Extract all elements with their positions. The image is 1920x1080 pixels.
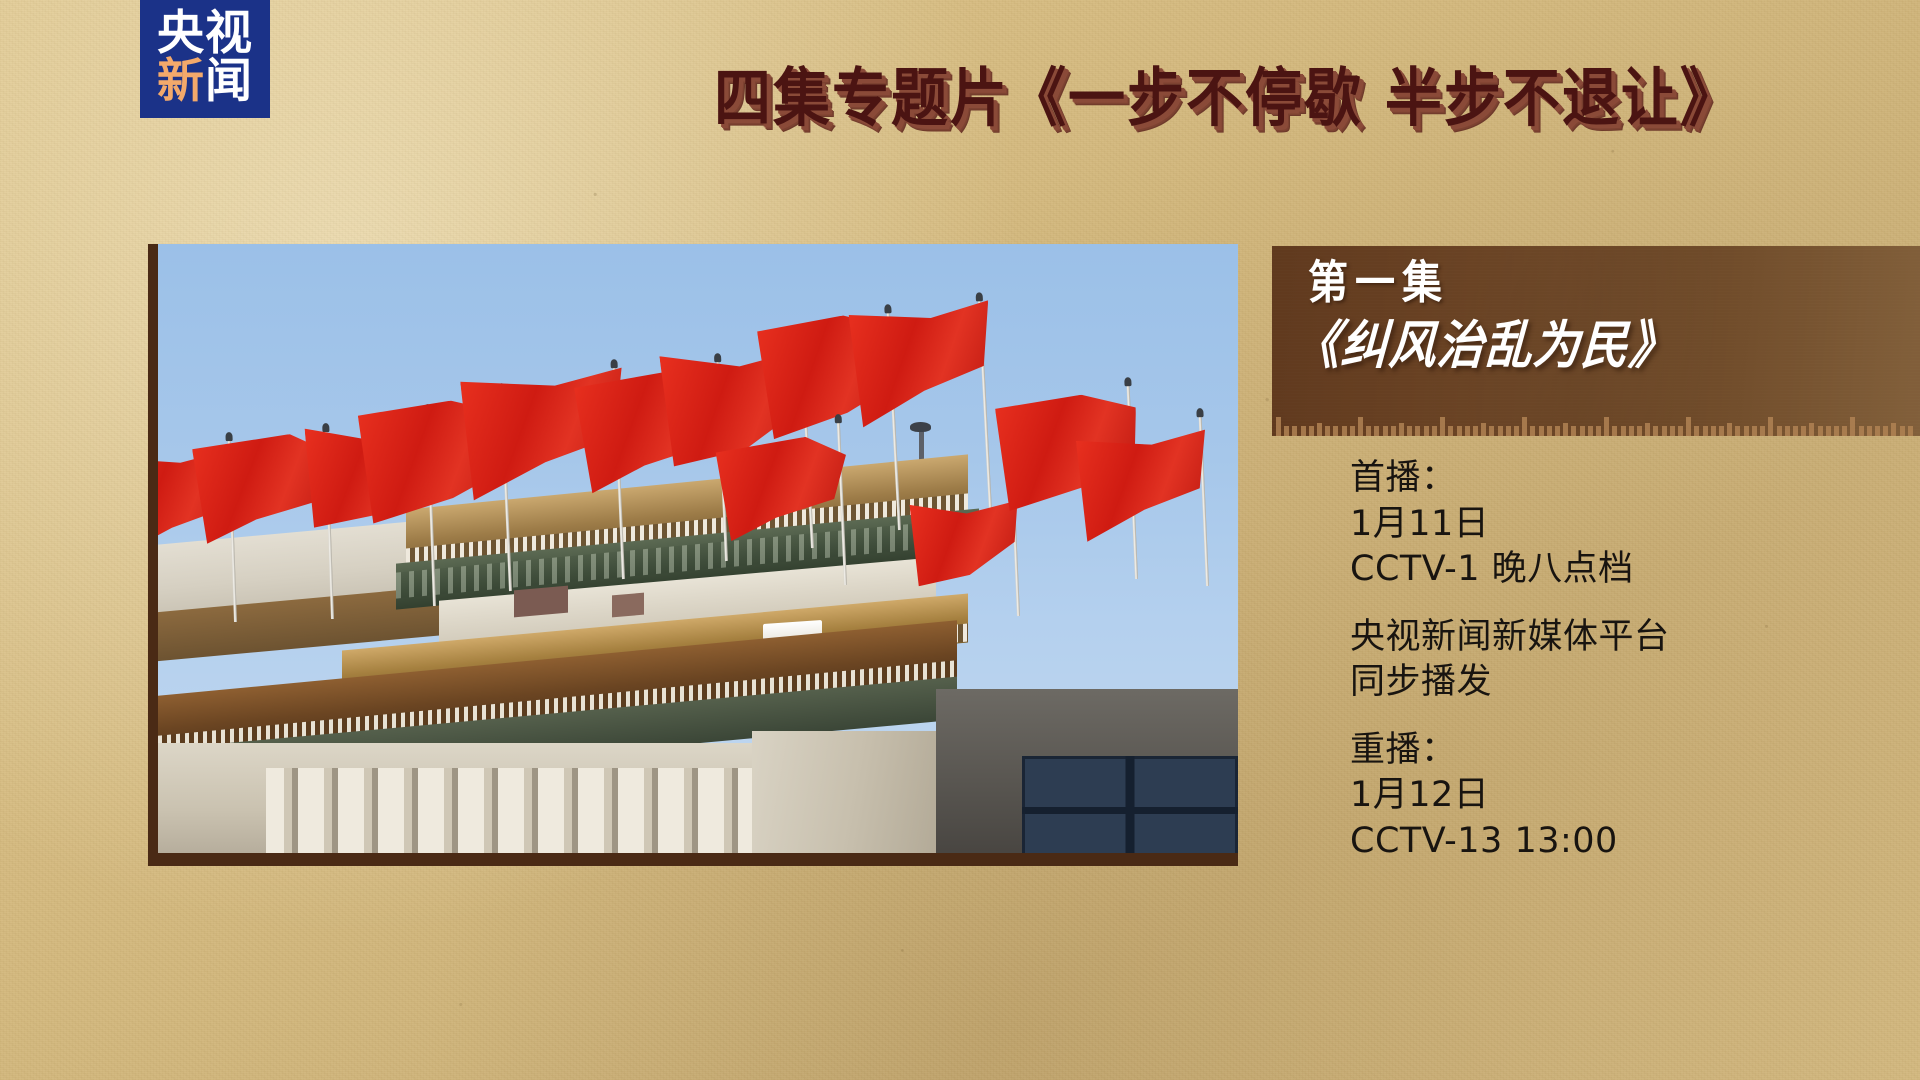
ruler-tick — [1604, 417, 1609, 436]
ruler-tick — [1826, 426, 1831, 436]
ruler-tick — [1842, 426, 1847, 436]
schedule-line: 同步播发 — [1350, 660, 1890, 706]
ruler-tick — [1900, 426, 1905, 436]
rooftop-lamp-head — [910, 422, 932, 432]
ruler-tick — [1522, 417, 1527, 436]
ruler-tick — [1301, 426, 1306, 436]
ruler-tick — [1703, 426, 1708, 436]
episode-panel: 第一集 《纠风治乱为民》 — [1272, 246, 1920, 436]
ruler-tick — [1366, 426, 1371, 436]
ruler-tick — [1834, 426, 1839, 436]
ruler-tick — [1350, 426, 1355, 436]
ruler-tick — [1637, 426, 1642, 436]
schedule-line: 央视新闻新媒体平台 — [1350, 615, 1890, 661]
ruler-tick — [1276, 417, 1281, 436]
schedule-line: 1月11日 — [1350, 502, 1890, 548]
right-window-mullions — [1022, 756, 1238, 853]
logo-line-two: 新 闻 — [157, 58, 253, 106]
schedule-block: 央视新闻新媒体平台同步播发 — [1350, 615, 1890, 706]
schedule-line: 首播： — [1350, 456, 1890, 502]
ruler-tick — [1686, 417, 1691, 436]
ruler-tick — [1744, 426, 1749, 436]
episode-title: 《纠风治乱为民》 — [1291, 318, 1678, 376]
ruler-tick — [1612, 426, 1617, 436]
episode-number-label: 第一集 — [1308, 258, 1449, 309]
colonnade-columns — [266, 768, 763, 853]
ruler-tick — [1621, 426, 1626, 436]
photo-frame — [148, 244, 1238, 864]
ruler-tick — [1571, 426, 1576, 436]
ruler-tick — [1694, 426, 1699, 436]
ruler-tick — [1809, 423, 1814, 436]
ruler-tick — [1867, 426, 1872, 436]
ruler-tick — [1891, 423, 1896, 436]
logo-text-xin: 新 — [157, 58, 205, 106]
red-flag — [1076, 427, 1214, 541]
poster-root: 央视 新 闻 四集专题片《一步不停歇 半步不退让》 — [0, 0, 1920, 1080]
ruler-tick — [1883, 426, 1888, 436]
schedule-line: 1月12日 — [1350, 773, 1890, 819]
schedule-line: CCTV-13 13:00 — [1350, 819, 1890, 865]
ruler-tick — [1547, 426, 1552, 436]
logo-text-wen: 闻 — [205, 58, 253, 106]
ruler-tick — [1563, 423, 1568, 436]
ruler-tick — [1645, 423, 1650, 436]
ruler-tick — [1440, 417, 1445, 436]
ruler-tick — [1424, 426, 1429, 436]
ruler-tick — [1711, 426, 1716, 436]
ruler-tick — [1448, 426, 1453, 436]
logo-line-one: 央视 — [157, 10, 253, 58]
photo-great-hall — [158, 244, 1238, 853]
ruler-tick — [1752, 426, 1757, 436]
ruler-tick — [1850, 417, 1855, 436]
ruler-tick — [1506, 426, 1511, 436]
schedule-line: 重播： — [1350, 728, 1890, 774]
schedule-line: CCTV-1 晚八点档 — [1350, 547, 1890, 593]
red-flag — [848, 298, 1000, 428]
ruler-tick — [1629, 426, 1634, 436]
ruler-tick — [1727, 423, 1732, 436]
broadcast-schedule: 首播：1月11日CCTV-1 晚八点档央视新闻新媒体平台同步播发重播：1月12日… — [1350, 456, 1890, 886]
ruler-tick — [1760, 426, 1765, 436]
ruler-tick — [1580, 426, 1585, 436]
schedule-block: 首播：1月11日CCTV-1 晚八点档 — [1350, 456, 1890, 593]
ruler-tick — [1588, 426, 1593, 436]
ruler-tick — [1358, 417, 1363, 436]
ruler-tick — [1473, 426, 1478, 436]
ruler-tick — [1415, 426, 1420, 436]
ruler-tick — [1670, 426, 1675, 436]
ruler-tick — [1653, 426, 1658, 436]
ruler-tick — [1768, 417, 1773, 436]
ruler-tick — [1309, 426, 1314, 436]
ruler-tick — [1555, 426, 1560, 436]
ruler-tick — [1662, 426, 1667, 436]
ruler-tick — [1596, 426, 1601, 436]
ruler-tick — [1407, 426, 1412, 436]
upper-window-b — [612, 592, 644, 617]
ruler-tick — [1325, 426, 1330, 436]
ruler-tick — [1530, 426, 1535, 436]
ruler-tick — [1908, 426, 1913, 436]
ruler-tick — [1719, 426, 1724, 436]
corner-pier — [752, 731, 957, 853]
ruler-tick — [1785, 426, 1790, 436]
ruler-tick — [1333, 426, 1338, 436]
ruler-tick — [1489, 426, 1494, 436]
ruler-tick — [1481, 423, 1486, 436]
ruler-tick — [1498, 426, 1503, 436]
ruler-tick — [1801, 426, 1806, 436]
ruler-tick — [1678, 426, 1683, 436]
ruler-tick — [1735, 426, 1740, 436]
ruler-tick — [1383, 426, 1388, 436]
ruler-tick — [1391, 426, 1396, 436]
ruler-tick — [1539, 426, 1544, 436]
logo-text-yangshi: 央视 — [157, 10, 253, 58]
program-headline: 四集专题片《一步不停歇 半步不退让》 — [714, 66, 1904, 133]
ruler-tick — [1317, 423, 1322, 436]
ruler-tick — [1342, 426, 1347, 436]
ruler-tick — [1777, 426, 1782, 436]
ruler-tick — [1292, 426, 1297, 436]
ruler-tick — [1793, 426, 1798, 436]
ruler-tick — [1859, 426, 1864, 436]
cctv-news-logo[interactable]: 央视 新 闻 — [140, 0, 270, 118]
photo-bottom-frame-bar — [148, 856, 1238, 866]
ruler-tick-strip — [1272, 414, 1920, 436]
ruler-tick — [1374, 426, 1379, 436]
ruler-tick — [1465, 426, 1470, 436]
ruler-tick — [1875, 426, 1880, 436]
upper-window-a — [514, 586, 568, 618]
schedule-block: 重播：1月12日CCTV-13 13:00 — [1350, 728, 1890, 865]
ruler-tick — [1432, 426, 1437, 436]
ruler-tick — [1818, 426, 1823, 436]
ruler-tick — [1457, 426, 1462, 436]
ruler-tick — [1284, 426, 1289, 436]
ruler-tick — [1514, 426, 1519, 436]
ruler-tick — [1399, 423, 1404, 436]
